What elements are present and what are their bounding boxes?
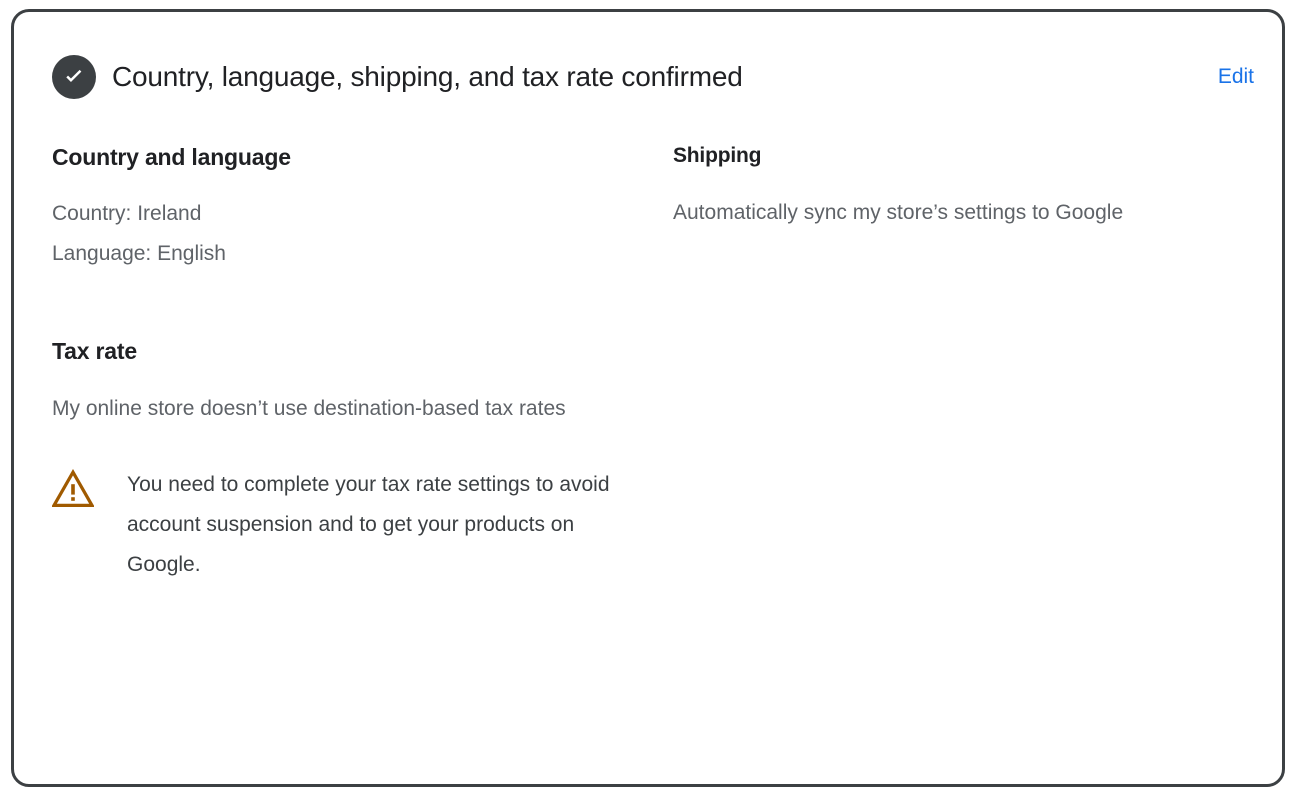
right-column: Shipping Automatically sync my store’s s… (672, 142, 1244, 233)
edit-button[interactable]: Edit (1200, 63, 1254, 91)
warning-message: You need to complete your tax rate setti… (127, 465, 612, 585)
screen: Country, language, shipping, and tax rat… (0, 0, 1296, 800)
tax-rate-heading: Tax rate (52, 336, 672, 366)
country-language-heading: Country and language (52, 142, 672, 172)
section-tax-rate: Tax rate My online store doesn’t use des… (52, 336, 672, 585)
country-value: Country: Ireland (52, 194, 672, 234)
card-header: Country, language, shipping, and tax rat… (14, 12, 1282, 142)
language-value: Language: English (52, 234, 672, 274)
page-title: Country, language, shipping, and tax rat… (112, 59, 1200, 95)
section-shipping: Shipping Automatically sync my store’s s… (673, 142, 1244, 233)
columns-layout: Country and language Country: Ireland La… (52, 142, 1244, 585)
tax-rate-warning: You need to complete your tax rate setti… (52, 465, 612, 585)
confirmation-card: Country, language, shipping, and tax rat… (11, 9, 1285, 787)
card-body: Country and language Country: Ireland La… (14, 142, 1282, 784)
warning-triangle-icon (52, 469, 94, 509)
left-column: Country and language Country: Ireland La… (52, 142, 672, 585)
section-country-and-language: Country and language Country: Ireland La… (52, 142, 672, 274)
shipping-heading: Shipping (673, 142, 1244, 170)
tax-rate-value: My online store doesn’t use destination-… (52, 388, 582, 429)
check-circle-icon (52, 55, 96, 99)
shipping-value: Automatically sync my store’s settings t… (673, 192, 1218, 233)
